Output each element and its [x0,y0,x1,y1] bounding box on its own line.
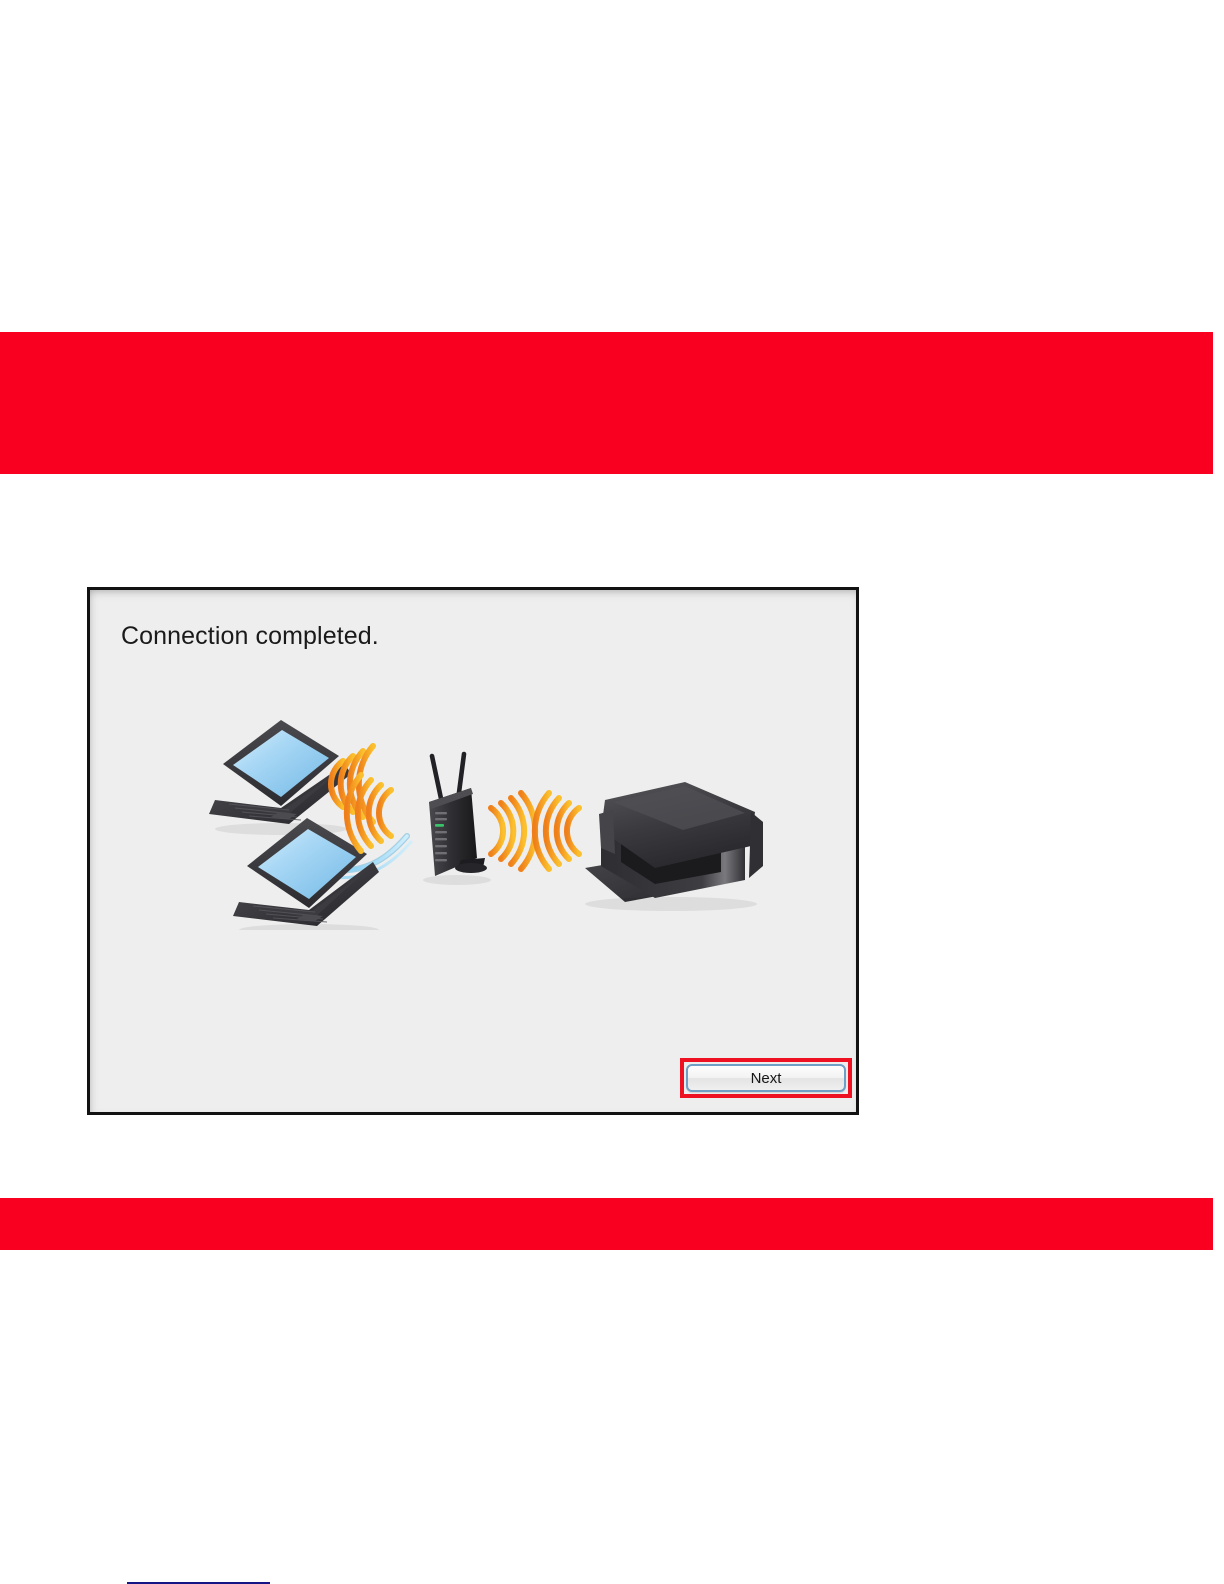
laptop-wired-icon [233,818,379,930]
network-diagram [185,690,765,930]
bottom-red-banner [0,1198,1213,1250]
wifi-wave-icon-router-right [491,793,535,869]
wifi-wave-icon-printer [535,793,579,869]
dialog-title: Connection completed. [121,622,379,651]
setup-dialog-window: Connection completed. [87,587,859,1115]
wireless-router-icon [423,754,491,885]
next-button[interactable]: Next [686,1064,846,1092]
top-red-banner [0,332,1213,474]
footer-link[interactable] [127,1570,270,1584]
printer-icon [585,782,763,911]
